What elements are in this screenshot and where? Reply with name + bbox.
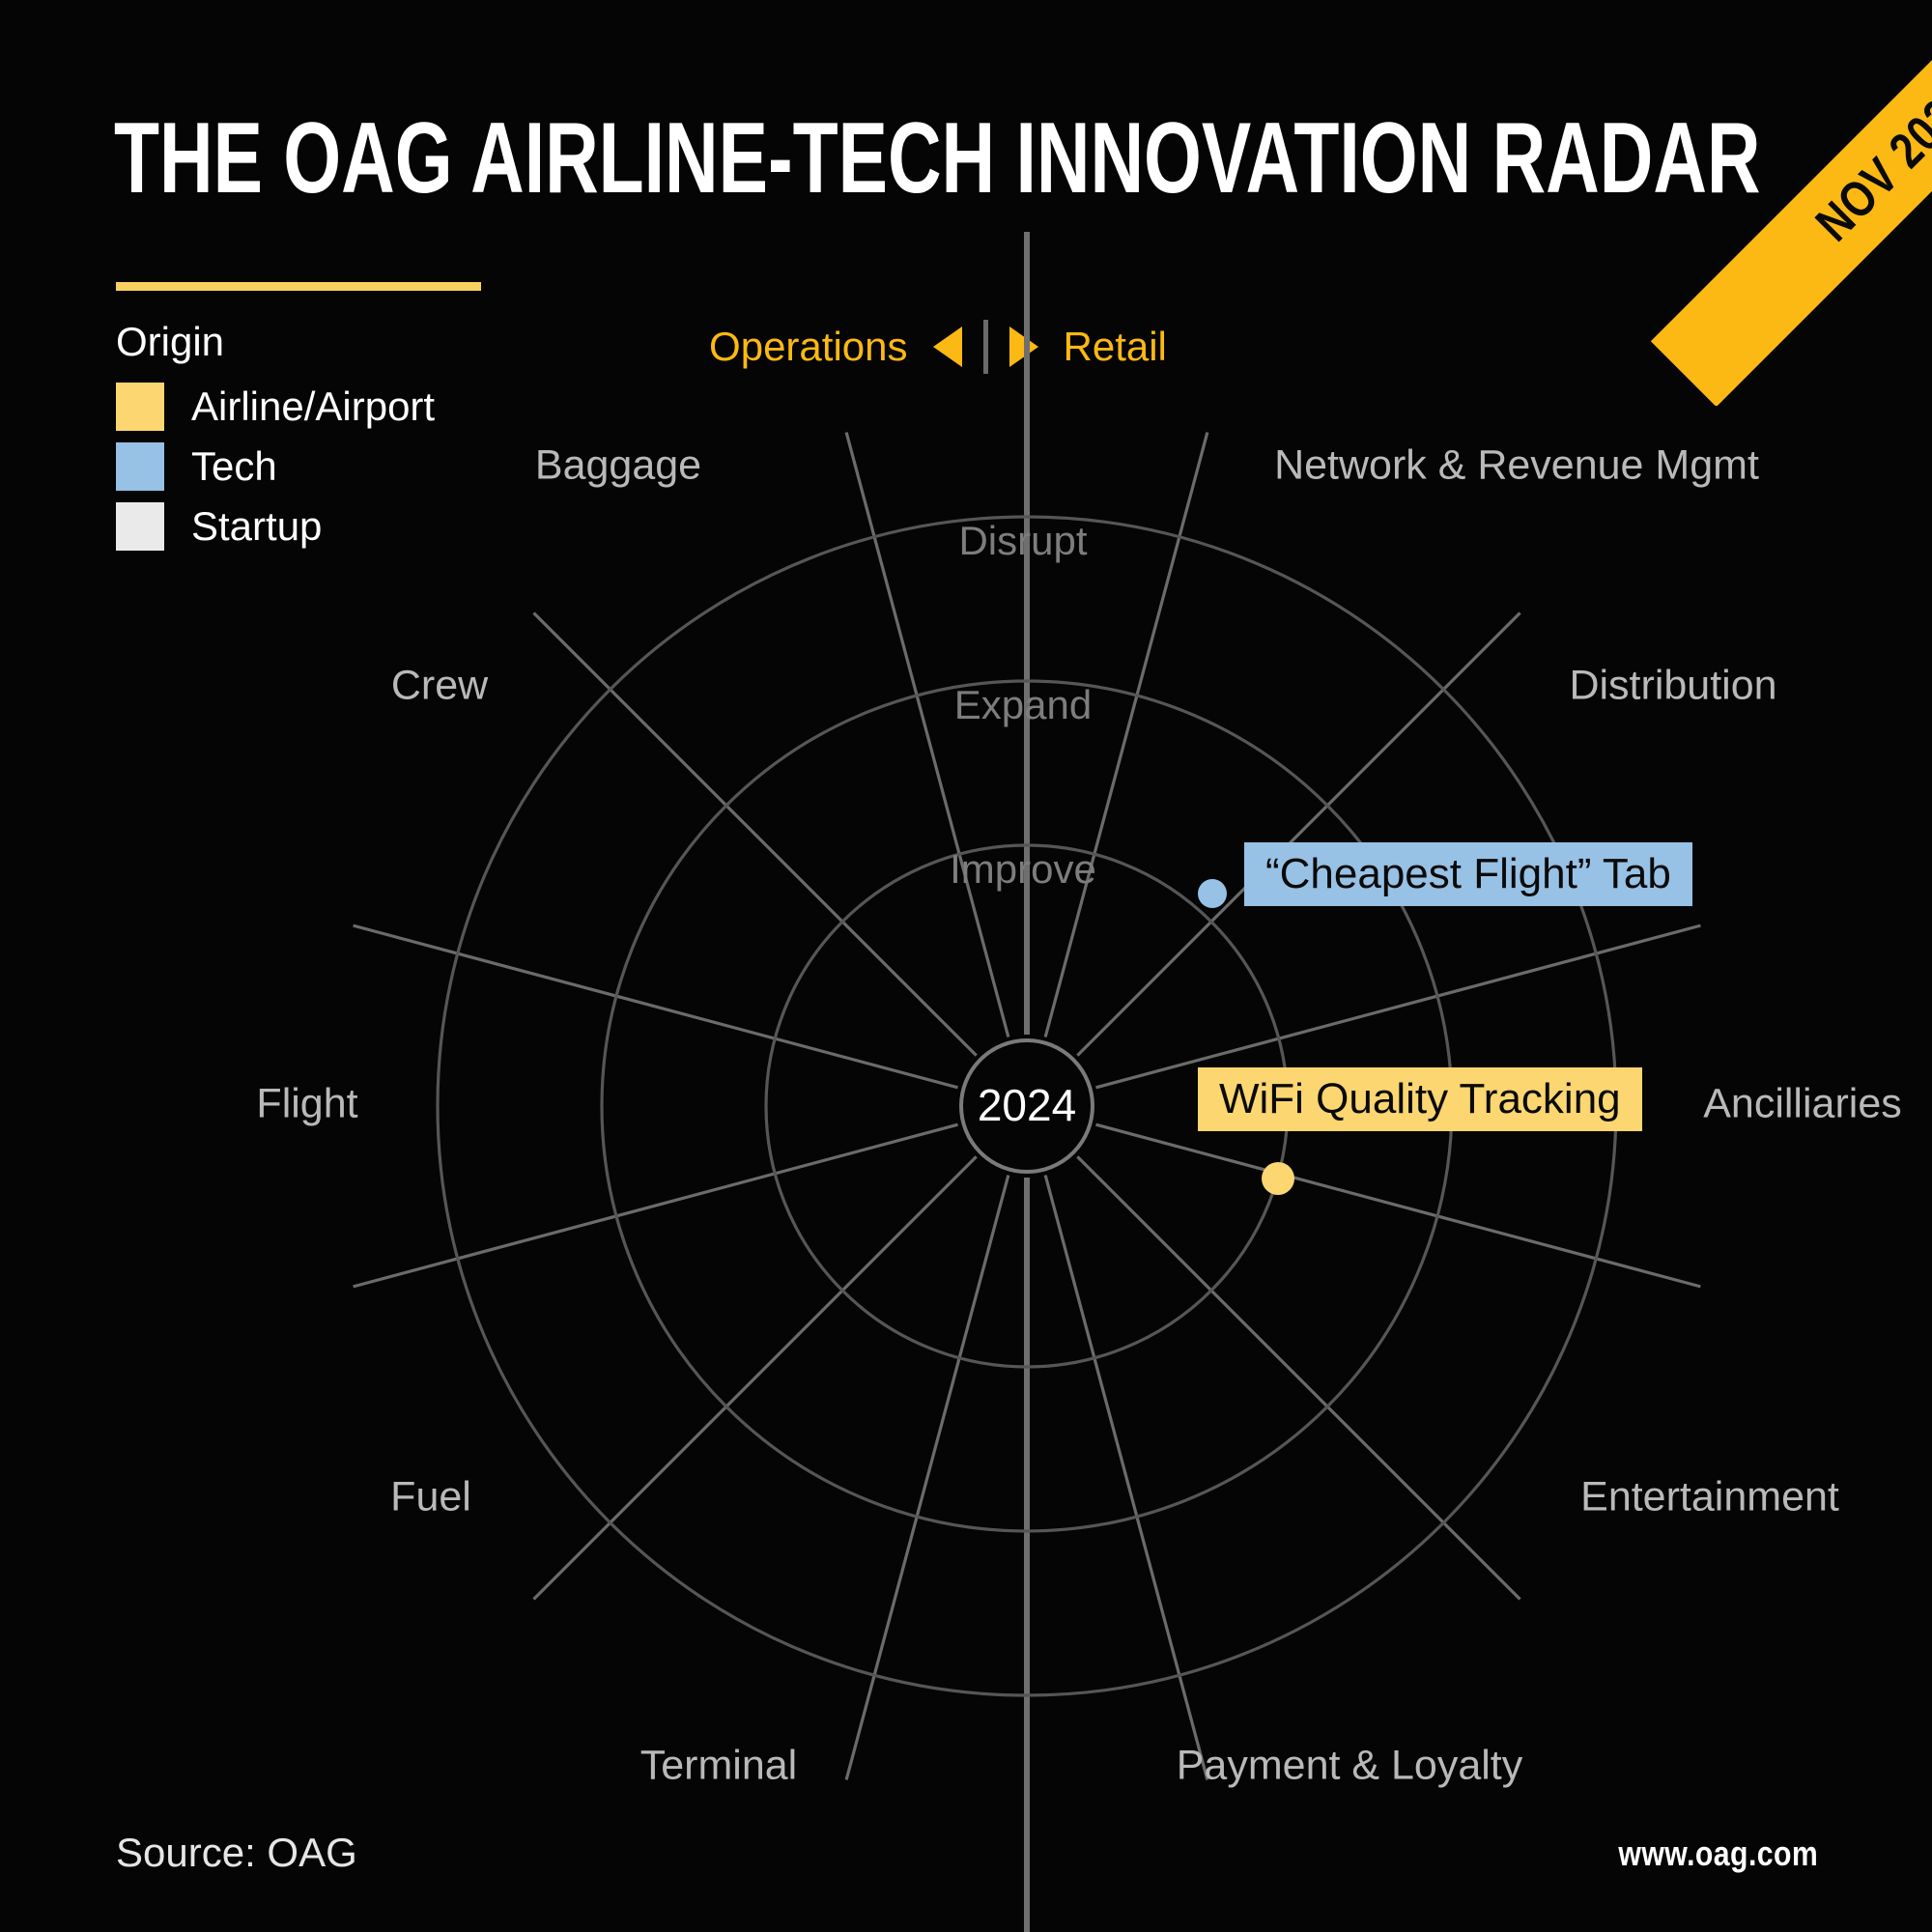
data-point-text-1: WiFi Quality Tracking <box>1219 1075 1621 1123</box>
radar-spoke-7 <box>533 1156 976 1599</box>
sector-label-terminal: Terminal <box>640 1742 798 1788</box>
radar-ring-labels: ImproveExpandDisrupt <box>950 518 1096 892</box>
ring-label-expand: Expand <box>954 682 1092 727</box>
radar-spoke-11 <box>1095 1124 1700 1287</box>
footer-website-label: www.oag.com <box>1618 1833 1818 1874</box>
ring-label-improve: Improve <box>950 846 1096 892</box>
radar-spoke-10 <box>1077 1156 1520 1599</box>
radar-chart: 2024 ImproveExpandDisrupt BaggageCrewFli… <box>0 0 1932 1932</box>
radar-spoke-4 <box>533 612 976 1055</box>
ring-label-disrupt: Disrupt <box>958 518 1087 563</box>
radar-spoke-0 <box>1095 925 1700 1088</box>
radar-spoke-6 <box>354 1124 958 1287</box>
sector-label-crew: Crew <box>391 662 489 708</box>
data-point-text-0: “Cheapest Flight” Tab <box>1265 850 1671 898</box>
data-point-label-wifi-quality-tracking[interactable]: WiFi Quality Tracking <box>1198 1067 1642 1131</box>
sector-label-baggage: Baggage <box>535 441 701 488</box>
sector-label-payment-loyalty: Payment & Loyalty <box>1177 1742 1523 1788</box>
sector-label-entertainment: Entertainment <box>1580 1473 1839 1520</box>
radar-spoke-5 <box>354 925 958 1088</box>
center-hub-year-label: 2024 <box>978 1080 1076 1130</box>
sector-label-network-revenue-mgmt: Network & Revenue Mgmt <box>1274 441 1759 488</box>
radar-spoke-9 <box>1045 1175 1207 1779</box>
radar-center-hub: 2024 <box>961 1040 1093 1172</box>
radar-spoke-8 <box>846 1175 1009 1779</box>
sector-label-fuel: Fuel <box>390 1473 471 1520</box>
data-point-label-cheapest-flight-tab[interactable]: “Cheapest Flight” Tab <box>1244 842 1692 906</box>
sector-label-ancilliaries: Ancilliaries <box>1703 1080 1902 1126</box>
data-point-dot-cheapest-flight-tab[interactable] <box>1198 879 1227 908</box>
data-point-dot-wifi-quality-tracking[interactable] <box>1262 1162 1294 1195</box>
sector-label-distribution: Distribution <box>1569 662 1776 708</box>
sector-label-flight: Flight <box>256 1080 357 1126</box>
radar-spoke-1 <box>1077 612 1520 1055</box>
footer-source-label: Source: OAG <box>116 1830 357 1876</box>
